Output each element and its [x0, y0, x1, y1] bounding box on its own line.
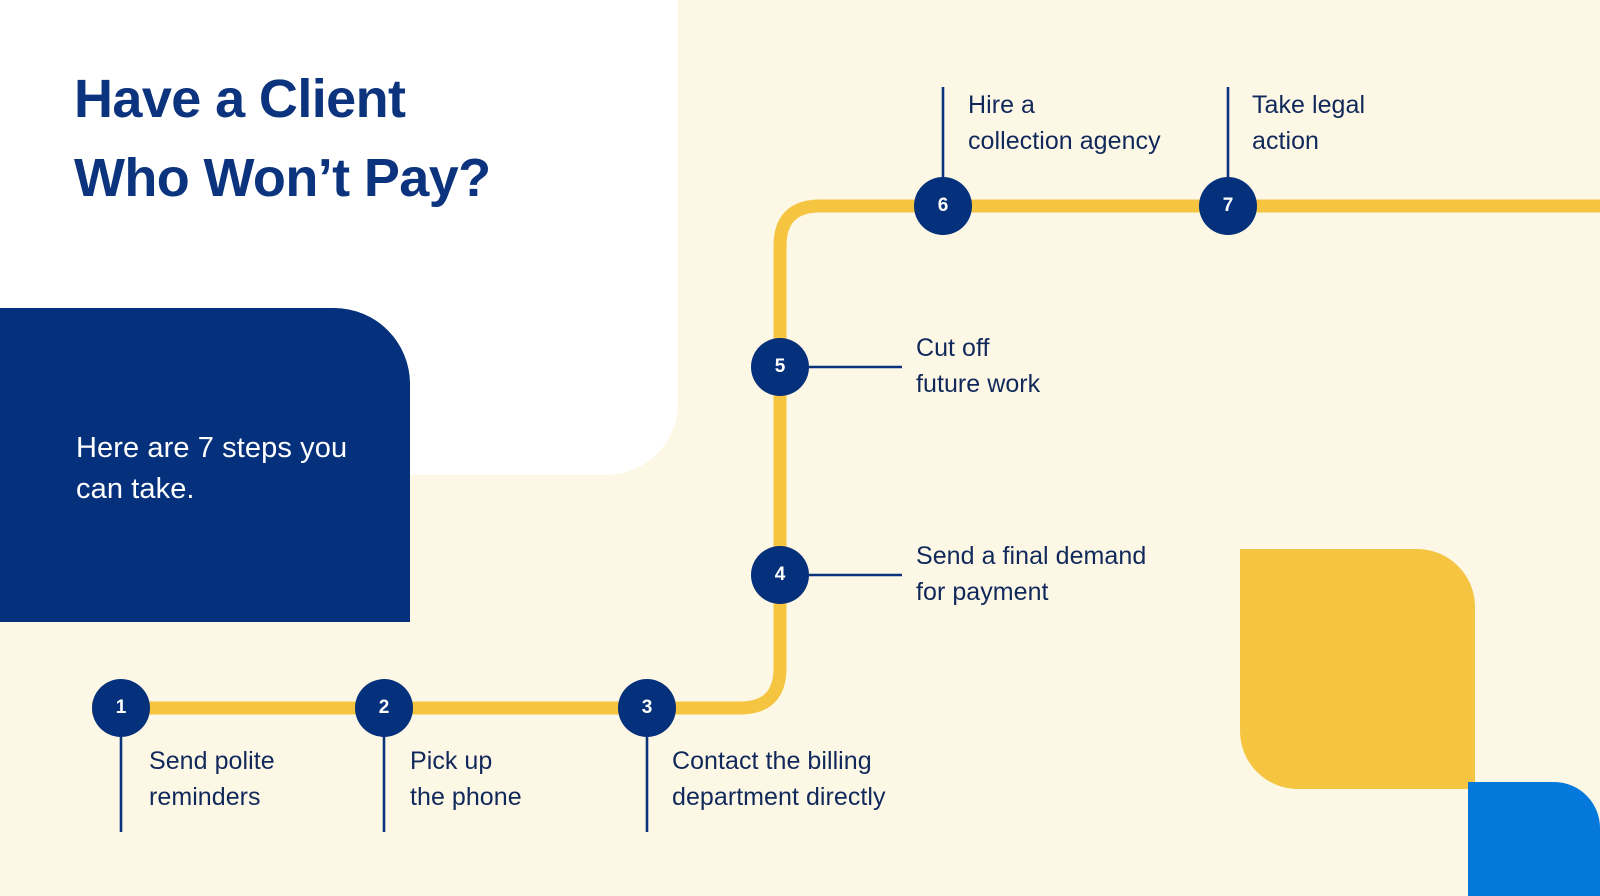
step-label-3: Contact the billing department directly	[672, 744, 886, 815]
step-label-5: Cut off future work	[916, 331, 1040, 402]
infographic-canvas: Have a Client Who Won’t Pay? Here are 7 …	[0, 0, 1600, 896]
step-label-6: Hire a collection agency	[968, 88, 1161, 159]
step-marker-1[interactable]: 1	[92, 679, 150, 737]
step-number-6: 6	[938, 195, 949, 217]
step-number-7: 7	[1223, 195, 1234, 217]
step-label-7: Take legal action	[1252, 88, 1365, 159]
step-marker-4[interactable]: 4	[751, 546, 809, 604]
yellow-timeline-path	[92, 206, 1600, 708]
step-marker-6[interactable]: 6	[914, 177, 972, 235]
step-connector-lines	[121, 87, 1228, 832]
step-marker-2[interactable]: 2	[355, 679, 413, 737]
step-number-5: 5	[775, 356, 786, 378]
step-marker-3[interactable]: 3	[618, 679, 676, 737]
step-number-2: 2	[379, 697, 390, 719]
step-number-3: 3	[642, 697, 653, 719]
step-marker-5[interactable]: 5	[751, 338, 809, 396]
step-label-1: Send polite reminders	[149, 744, 275, 815]
step-label-4: Send a final demand for payment	[916, 539, 1146, 610]
step-number-4: 4	[775, 564, 786, 586]
step-label-2: Pick up the phone	[410, 744, 522, 815]
step-marker-7[interactable]: 7	[1199, 177, 1257, 235]
step-number-1: 1	[116, 697, 127, 719]
